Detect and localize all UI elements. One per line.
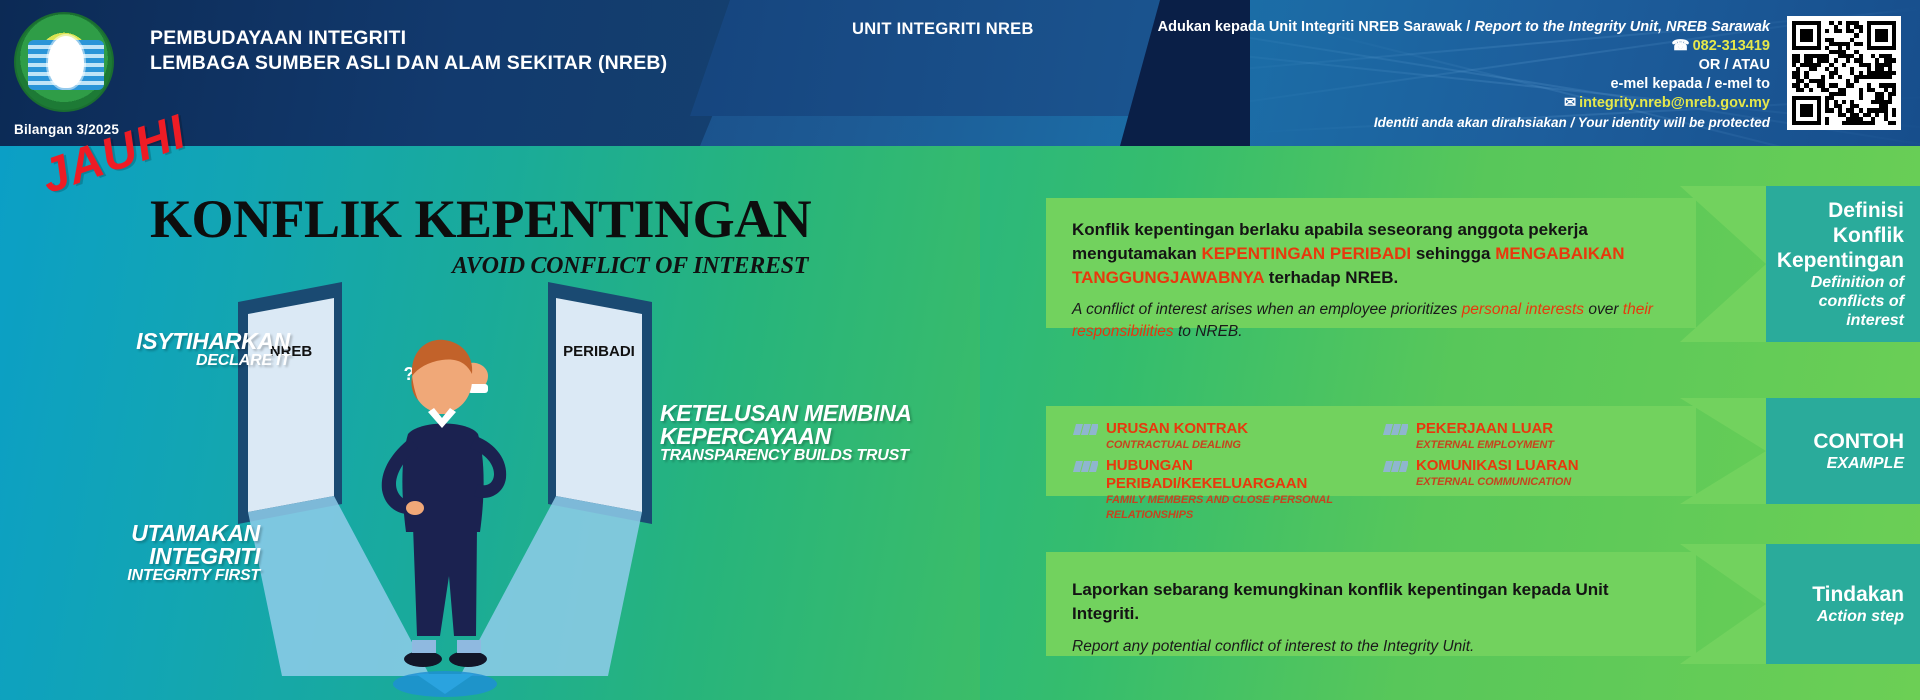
tab-action: Tindakan Action step (1766, 544, 1920, 664)
label-integrity-first: UTAMAKAN INTEGRITI INTEGRITY FIRST (30, 522, 260, 584)
action-english: Report any potential conflict of interes… (1072, 636, 1670, 658)
tab-examples-subtitle: EXAMPLE (1766, 454, 1904, 473)
seal-ring-text (16, 14, 112, 110)
definition-my-part3: terhadap NREB. (1264, 268, 1398, 287)
man-sock-right (457, 640, 481, 653)
panel-action-text: Laporkan sebarang kemungkinan konflik ke… (1046, 552, 1696, 658)
left-light-beam (248, 496, 430, 676)
email-line: ✉integrity.nreb@nreb.gov.my (1150, 94, 1770, 113)
tab-definition-subtitle: Definition of conflicts of interest (1766, 273, 1904, 330)
definition-en-highlight1: personal interests (1462, 301, 1584, 318)
examples-grid: URUSAN KONTRAK CONTRACTUAL DEALING PEKER… (1046, 406, 1696, 523)
chevron-triple-icon (1072, 461, 1098, 472)
label-declare: ISYTIHARKAN DECLARE IT (110, 330, 290, 369)
man-sock-left (412, 640, 436, 653)
example-item: KOMUNIKASI LUARAN EXTERNAL COMMUNICATION (1382, 457, 1678, 523)
report-my: Adukan kepada Unit Integriti NREB Sarawa… (1158, 19, 1463, 35)
example-2-my: HUBUNGAN PERIBADI/KEKELUARGAAN (1106, 457, 1368, 493)
man-shoe-left (404, 651, 442, 667)
qr-code-pattern (1792, 21, 1896, 125)
email-label: e-mel kepada / e-mel to (1150, 75, 1770, 94)
tab-examples-title: CONTOH (1766, 429, 1904, 454)
definition-my-highlight1: KEPENTINGAN PERIBADI (1201, 244, 1411, 263)
phone-icon: ☎ (1672, 37, 1690, 56)
header-unit-title: UNIT INTEGRITI NREB (852, 20, 1034, 39)
label-declare-en: DECLARE IT (110, 353, 290, 369)
label-integrity-my: UTAMAKAN INTEGRITI (30, 522, 260, 568)
tab-examples: CONTOH EXAMPLE (1766, 398, 1920, 504)
example-3-en: EXTERNAL COMMUNICATION (1416, 475, 1578, 490)
report-line: Adukan kepada Unit Integriti NREB Sarawa… (1150, 18, 1770, 37)
label-transparency-en: TRANSPARENCY BUILDS TRUST (660, 448, 920, 464)
definition-english: A conflict of interest arises when an em… (1072, 299, 1670, 343)
man-hand-left (406, 501, 424, 515)
or-atau: OR / ATAU (1150, 56, 1770, 75)
tab-definition: Definisi Konflik Kepentingan Definition … (1766, 186, 1920, 342)
action-malay: Laporkan sebarang kemungkinan konflik ke… (1072, 578, 1670, 626)
header-org-title: PEMBUDAYAAN INTEGRITI LEMBAGA SUMBER ASL… (150, 26, 667, 76)
definition-en-part3: to NREB. (1174, 323, 1243, 340)
report-separator: / (1466, 19, 1470, 35)
example-item: URUSAN KONTRAK CONTRACTUAL DEALING (1072, 420, 1368, 453)
example-3-my: KOMUNIKASI LUARAN (1416, 457, 1578, 475)
example-1-my: PEKERJAAN LUAR (1416, 420, 1554, 438)
man-legs (413, 526, 477, 636)
right-door-opening (556, 298, 642, 512)
definition-malay: Konflik kepentingan berlaku apabila sese… (1072, 218, 1670, 290)
label-declare-my: ISYTIHARKAN (110, 330, 290, 353)
label-integrity-en: INTEGRITY FIRST (30, 568, 260, 584)
conflict-doors-illustration: NREB PERIBADI ? ? ? (230, 276, 660, 700)
nreb-logo (14, 12, 118, 112)
label-transparency: KETELUSAN MEMBINA KEPERCAYAAN TRANSPAREN… (660, 402, 920, 464)
example-1-en: EXTERNAL EMPLOYMENT (1416, 438, 1554, 453)
header-contact-block: Adukan kepada Unit Integriti NREB Sarawa… (1150, 18, 1770, 132)
tab-action-subtitle: Action step (1766, 607, 1904, 626)
confused-man-figure (382, 340, 506, 667)
definition-my-part2: sehingga (1411, 244, 1495, 263)
example-2-en: FAMILY MEMBERS AND CLOSE PERSONAL RELATI… (1106, 493, 1368, 523)
example-0-my: URUSAN KONTRAK (1106, 420, 1248, 438)
page-title: KONFLIK KEPENTINGAN (150, 188, 811, 250)
poster-root: PEMBUDAYAAN INTEGRITI LEMBAGA SUMBER ASL… (0, 0, 1920, 700)
page-title-english: AVOID CONFLICT OF INTEREST (452, 253, 808, 280)
definition-en-part2: over (1584, 301, 1623, 318)
definition-en-part1: A conflict of interest arises when an em… (1072, 301, 1462, 318)
label-transparency-my: KETELUSAN MEMBINA KEPERCAYAAN (660, 402, 920, 448)
chevron-triple-icon (1382, 424, 1408, 435)
qr-code[interactable] (1787, 16, 1901, 130)
phone-number[interactable]: 082-313419 (1693, 38, 1770, 54)
confidentiality-note: Identiti anda akan dirahsiakan / Your id… (1150, 113, 1770, 132)
chevron-triple-icon (1072, 424, 1098, 435)
header-org-line1: PEMBUDAYAAN INTEGRITI (150, 26, 667, 51)
man-shoe-right (449, 651, 487, 667)
panel-definition: Konflik kepentingan berlaku apabila sese… (1046, 198, 1696, 328)
panel-action: Laporkan sebarang kemungkinan konflik ke… (1046, 552, 1696, 656)
header-center-panel (690, 0, 1190, 116)
tab-definition-title: Definisi Konflik Kepentingan (1766, 198, 1904, 273)
chevron-triple-icon (1382, 461, 1408, 472)
tab-action-title: Tindakan (1766, 582, 1904, 607)
header-bar: PEMBUDAYAAN INTEGRITI LEMBAGA SUMBER ASL… (0, 0, 1920, 146)
report-en: Report to the Integrity Unit, NREB Saraw… (1474, 19, 1770, 35)
panel-definition-text: Konflik kepentingan berlaku apabila sese… (1046, 198, 1696, 343)
example-item: HUBUNGAN PERIBADI/KEKELUARGAAN FAMILY ME… (1072, 457, 1368, 523)
mail-icon: ✉ (1564, 94, 1576, 113)
example-0-en: CONTRACTUAL DEALING (1106, 438, 1248, 453)
panel-examples: URUSAN KONTRAK CONTRACTUAL DEALING PEKER… (1046, 406, 1696, 496)
right-light-beam (460, 496, 642, 676)
example-item: PEKERJAAN LUAR EXTERNAL EMPLOYMENT (1382, 420, 1678, 453)
email-address[interactable]: integrity.nreb@nreb.gov.my (1579, 95, 1770, 111)
nreb-seal-icon (14, 12, 114, 112)
header-org-line2: LEMBAGA SUMBER ASLI DAN ALAM SEKITAR (NR… (150, 51, 667, 76)
door-label-peribadi: PERIBADI (563, 343, 635, 360)
phone-line: ☎082-313419 (1150, 37, 1770, 56)
man-torso (402, 424, 483, 533)
